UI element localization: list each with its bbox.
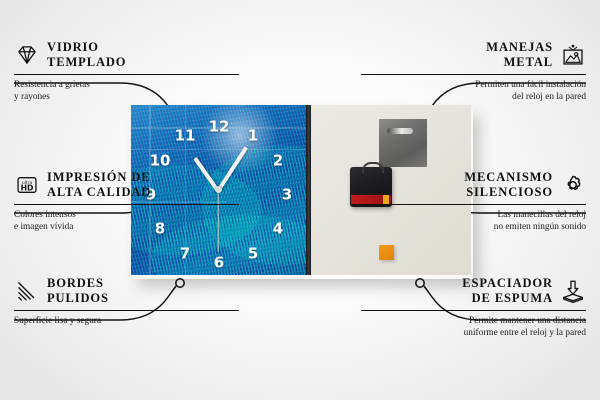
foam-spacer-icon <box>560 278 586 304</box>
clock-numeral: 5 <box>248 247 258 262</box>
callout-desc: Permiten una fácil instalación del reloj… <box>361 79 586 104</box>
callout-rule <box>361 204 586 206</box>
callout-silent-mechanism: MECANISMO SILENCIOSO Las manecillas del … <box>361 170 586 234</box>
callout-title: ESPACIADOR DE ESPUMA <box>462 276 553 307</box>
callout-hd-print: ultra HD IMPRESIÓN DE ALTA CALIDAD Color… <box>14 170 239 234</box>
callout-title: MANEJAS METAL <box>486 40 553 71</box>
clock-numeral: 2 <box>273 154 283 169</box>
svg-text:HD: HD <box>21 184 34 193</box>
clock-numeral: 7 <box>180 247 190 262</box>
clock-numeral: 12 <box>209 120 230 135</box>
hanger-slot <box>387 128 413 134</box>
clock-numeral: 3 <box>282 188 292 203</box>
metal-hanger-plate <box>379 119 427 167</box>
callout-rule <box>14 310 239 312</box>
callout-title: MECANISMO SILENCIOSO <box>464 170 553 201</box>
foam-spacer <box>379 245 394 260</box>
callout-rule <box>14 204 239 206</box>
callout-desc: Permite mantener una distancia uniforme … <box>361 315 586 340</box>
callout-desc: Resistencia a grietas y rayones <box>14 79 239 104</box>
clock-numeral: 11 <box>175 129 196 144</box>
polished-edge-icon <box>14 278 40 304</box>
callout-title: IMPRESIÓN DE ALTA CALIDAD <box>47 170 151 201</box>
callout-rule <box>361 310 586 312</box>
clock-numeral: 4 <box>273 222 283 237</box>
callout-desc: Colores intensos e imagen vívida <box>14 209 239 234</box>
clock-numeral: 1 <box>248 129 258 144</box>
callout-title: BORDES PULIDOS <box>47 276 109 307</box>
callout-foam-spacer: ESPACIADOR DE ESPUMA Permite mantener un… <box>361 276 586 340</box>
diamond-icon <box>14 42 40 68</box>
callout-desc: Las manecillas del reloj no emiten ningú… <box>361 209 586 234</box>
callout-desc: Superficie lisa y segura <box>14 315 239 327</box>
gear-icon <box>560 172 586 198</box>
picture-hanger-icon <box>560 42 586 68</box>
callout-title: VIDRIO TEMPLADO <box>47 40 126 71</box>
callout-rule <box>361 74 586 76</box>
infographic-canvas: 12 1 2 3 4 5 6 7 8 9 10 11 <box>0 0 600 400</box>
callout-polished-edges: BORDES PULIDOS Superficie lisa y segura <box>14 276 239 327</box>
callout-rule <box>14 74 239 76</box>
clock-numeral: 6 <box>214 256 224 271</box>
callout-metal-hangers: MANEJAS METAL Permiten una fácil instala… <box>361 40 586 104</box>
ultra-hd-icon: ultra HD <box>14 172 40 198</box>
callout-tempered-glass: VIDRIO TEMPLADO Resistencia a grietas y … <box>14 40 239 104</box>
clock-numeral: 10 <box>150 154 171 169</box>
